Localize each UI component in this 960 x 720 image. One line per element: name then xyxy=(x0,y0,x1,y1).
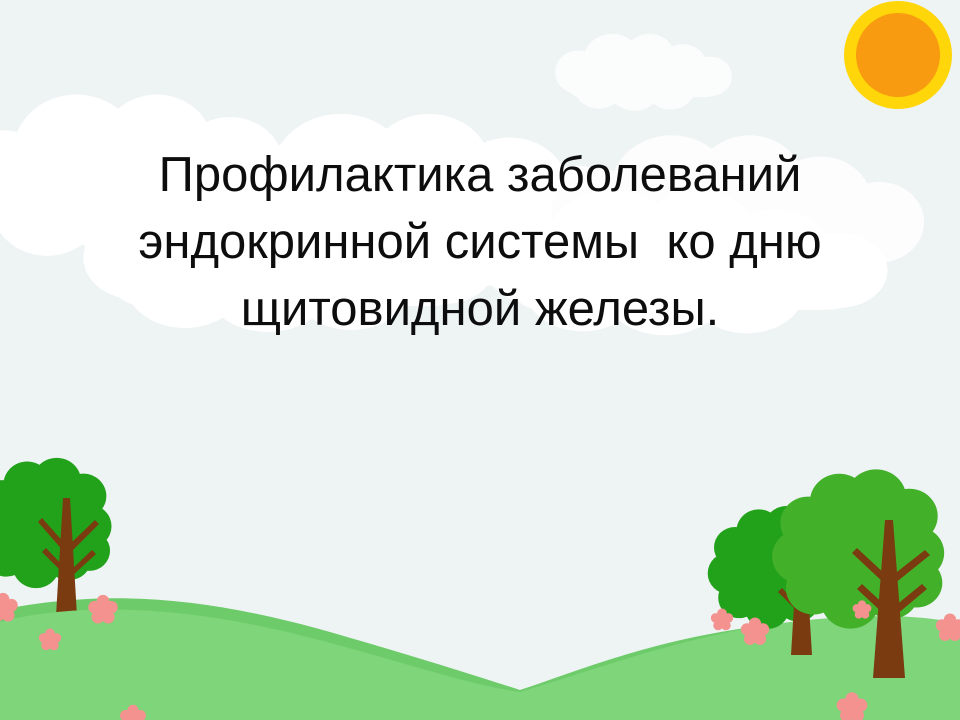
presentation-slide: Профилактика заболеваний эндокринной сис… xyxy=(0,0,960,720)
sun-core xyxy=(856,13,940,97)
sun-icon xyxy=(844,1,952,109)
slide-background-illustration xyxy=(0,0,960,720)
